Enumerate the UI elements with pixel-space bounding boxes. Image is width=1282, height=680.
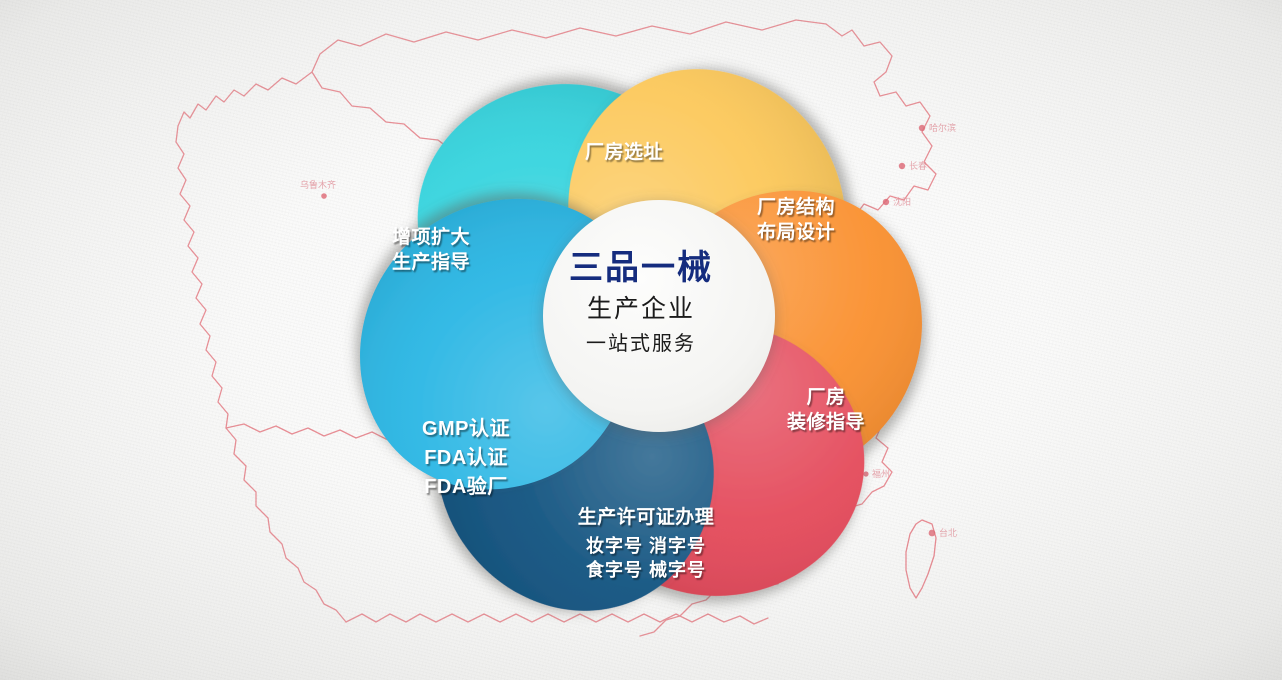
poster-canvas: 哈尔滨 长春 沈阳 北京 天津 济南 郑州 南京 上海 武汉 杭州 福州 台北 … — [0, 0, 1282, 680]
center-hub-text: 三品一械 生产企业 一站式服务 — [496, 248, 786, 356]
petal-label-production-license: 生产许可证办理 妆字号 消字号 食字号 械字号 — [531, 505, 761, 583]
brand-tagline: 一站式服务 — [496, 332, 786, 356]
petal-wheel-diagram: 厂房选址 厂房结构 布局设计 厂房 装修指导 生产许可证办理 妆字号 消字号 食… — [281, 0, 1001, 680]
brand-subtitle: 生产企业 — [496, 294, 786, 324]
petal-label-certification: GMP认证 FDA认证 FDA验厂 — [371, 415, 561, 502]
petal-label-renovation: 厂房 装修指导 — [736, 385, 916, 435]
brand-title: 三品一械 — [496, 248, 786, 288]
petal-label-site-selection: 厂房选址 — [524, 140, 724, 165]
petal-label-structure-layout: 厂房结构 布局设计 — [701, 195, 891, 245]
